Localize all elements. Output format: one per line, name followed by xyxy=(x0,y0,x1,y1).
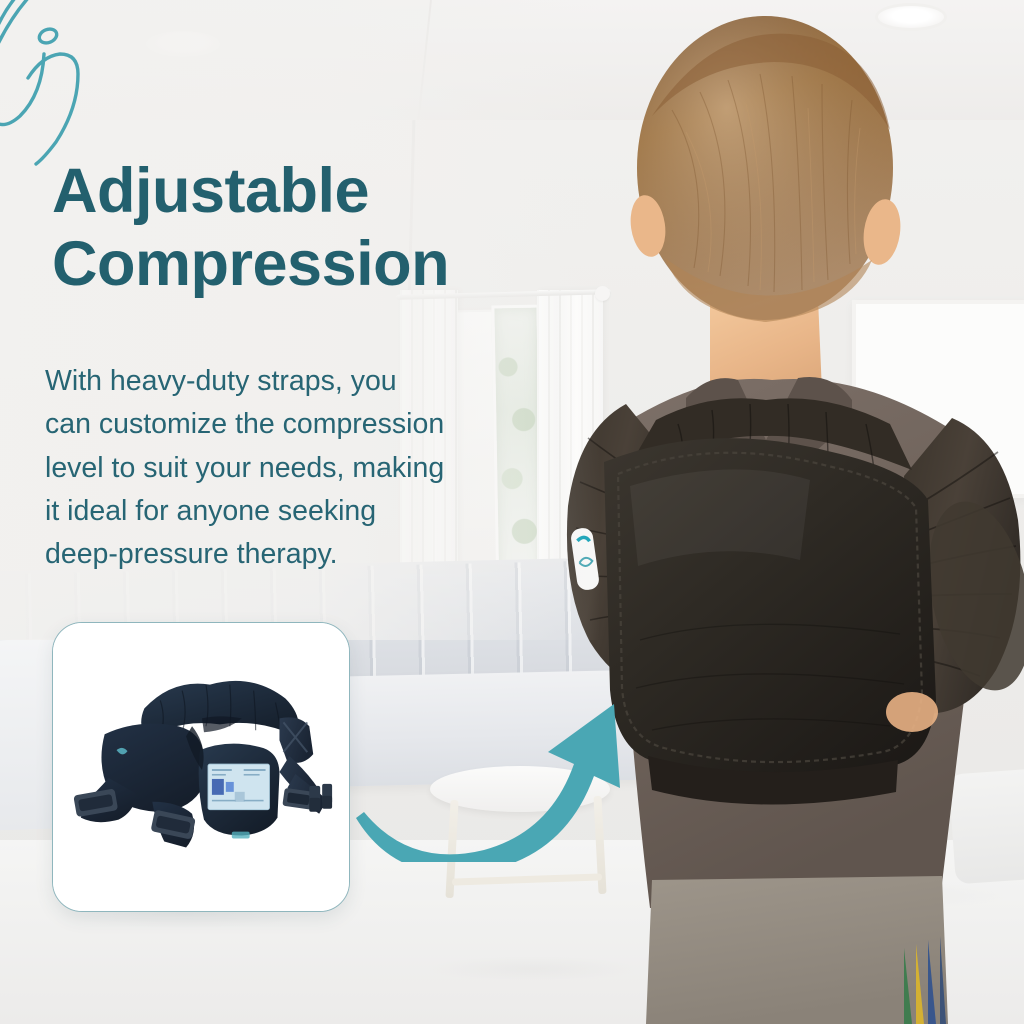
subject-photo-child-wearing-vest xyxy=(560,0,1024,1024)
body-copy-line: it ideal for anyone seeking xyxy=(45,490,545,533)
body-copy-line: can customize the compression xyxy=(45,403,545,446)
body-copy: With heavy-duty straps, you can customiz… xyxy=(45,360,545,577)
body-copy-line: deep-pressure therapy. xyxy=(45,533,545,576)
product-photo-compression-vest xyxy=(53,623,349,911)
page-title: Adjustable Compression xyxy=(52,160,572,296)
decorative-squiggle-icon xyxy=(0,0,136,172)
body-copy-line: With heavy-duty straps, you xyxy=(45,360,545,403)
headline-line-1: Adjustable xyxy=(52,156,369,226)
marketing-graphic: Adjustable Compression With heavy-duty s… xyxy=(0,0,1024,1024)
headline-line-2: Compression xyxy=(52,233,572,296)
product-inset-card[interactable] xyxy=(52,622,350,912)
body-copy-line: level to suit your needs, making xyxy=(45,447,545,490)
ceiling-light-icon xyxy=(146,31,220,57)
curved-arrow-icon xyxy=(352,672,632,862)
